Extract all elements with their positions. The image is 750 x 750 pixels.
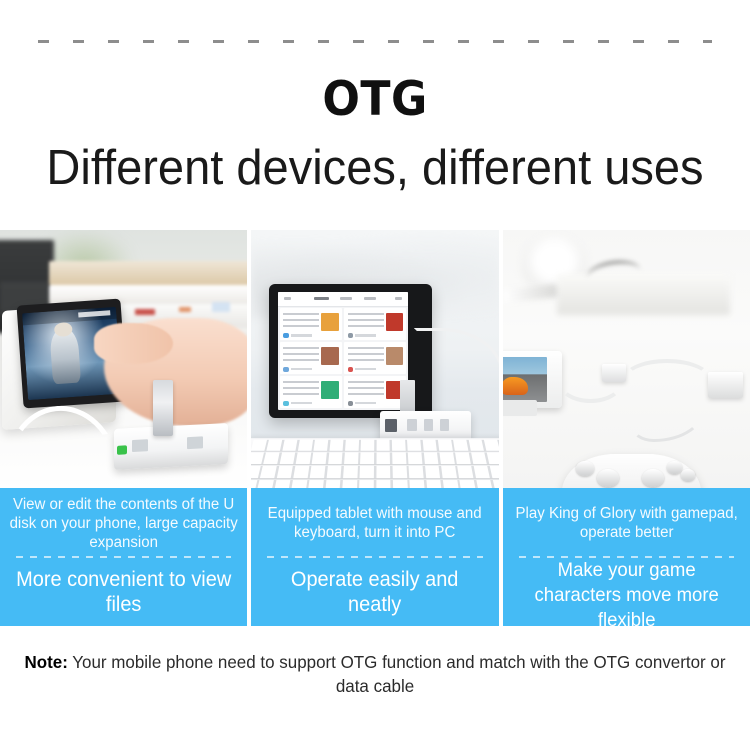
- article-text: [348, 313, 384, 330]
- book-label: [212, 302, 230, 312]
- note-label: Note:: [24, 652, 67, 672]
- article-text: [283, 381, 319, 398]
- racing-car-graphic: [503, 377, 528, 395]
- search-icon: [395, 297, 402, 300]
- author-avatar: [348, 333, 354, 338]
- usb-port: [424, 419, 433, 430]
- keyboard-row: [251, 466, 498, 479]
- caption-bottom: Make your game characters move more flex…: [509, 558, 744, 626]
- article-text: [348, 347, 384, 364]
- phone-screen: [503, 357, 547, 402]
- article-text: [283, 313, 319, 330]
- article-thumbnail: [321, 313, 338, 331]
- photo-tablet-pc: [251, 230, 498, 488]
- usb-port: [187, 436, 203, 449]
- caption-gamepad: Play King of Glory with gamepad, operate…: [503, 488, 750, 626]
- article-card-grid: [278, 306, 409, 410]
- article-text: [283, 347, 319, 364]
- usb-port: [407, 419, 416, 430]
- menu-icon: [284, 297, 291, 300]
- nav-tab: [340, 297, 352, 300]
- article-meta: [291, 334, 312, 337]
- author-avatar: [283, 401, 289, 406]
- article-text: [348, 381, 384, 398]
- caption-bottom-text: Make your game characters move more flex…: [515, 558, 739, 626]
- article-meta: [291, 402, 312, 405]
- keyboard: [251, 438, 498, 488]
- analog-stick-left: [597, 469, 619, 487]
- dpad-icon: [576, 461, 594, 476]
- infographic-page: OTG Different devices, different uses: [0, 0, 750, 750]
- feature-panels: View or edit the contents of the U disk …: [0, 230, 750, 626]
- author-avatar: [348, 367, 354, 372]
- hub-led-indicator: [117, 445, 126, 455]
- usb-flash-drive: [153, 380, 173, 437]
- app-nav-bar: [278, 292, 409, 307]
- photo-u-disk: [0, 230, 247, 488]
- article-card: [344, 342, 406, 374]
- article-card: [280, 376, 342, 408]
- tablet-screen: [278, 292, 409, 410]
- page-subtitle: Different devices, different uses: [15, 138, 735, 198]
- author-avatar: [283, 367, 289, 372]
- book-label: [179, 307, 191, 312]
- page-title: OTG: [23, 74, 728, 126]
- caption-tablet-pc: Equipped tablet with mouse and keyboard,…: [251, 488, 498, 626]
- book: [49, 261, 247, 285]
- feature-panel-u-disk: View or edit the contents of the U disk …: [0, 230, 247, 626]
- article-thumbnail: [386, 347, 403, 365]
- caption-bottom-text: Operate easily and neatly: [263, 567, 487, 617]
- notebook-blur: [557, 274, 730, 315]
- caption-bottom-text: More convenient to view files: [12, 567, 236, 617]
- caption-top: View or edit the contents of the U disk …: [6, 488, 241, 554]
- feature-panel-tablet-pc: Equipped tablet with mouse and keyboard,…: [251, 230, 498, 626]
- keyboard-row: [251, 480, 498, 488]
- article-thumbnail: [321, 381, 338, 399]
- author-avatar: [283, 333, 289, 338]
- article-thumbnail: [386, 313, 403, 331]
- pointing-finger: [94, 323, 173, 364]
- article-meta: [355, 334, 376, 337]
- caption-bottom: Operate easily and neatly: [257, 558, 492, 626]
- usb-port: [132, 439, 148, 452]
- article-card: [344, 308, 406, 340]
- caption-u-disk: View or edit the contents of the U disk …: [0, 488, 247, 626]
- article-meta: [291, 368, 312, 371]
- top-dashed-divider: [38, 40, 712, 43]
- article-card: [280, 342, 342, 374]
- article-card: [344, 376, 406, 408]
- phone-status-bar: [22, 307, 116, 325]
- caption-top: Play King of Glory with gamepad, operate…: [509, 488, 744, 554]
- note-text: Your mobile phone need to support OTG fu…: [72, 652, 725, 696]
- footer-note: Note: Your mobile phone need to support …: [11, 650, 739, 698]
- caption-top-text: Play King of Glory with gamepad, operate…: [512, 504, 740, 542]
- article-card: [280, 308, 342, 340]
- feature-panel-gamepad: Play King of Glory with gamepad, operate…: [503, 230, 750, 626]
- action-button: [667, 461, 682, 473]
- usb-port: [440, 419, 449, 430]
- keyboard-row: [251, 453, 498, 465]
- caption-bottom: More convenient to view files: [6, 558, 241, 626]
- book-label: [135, 309, 155, 315]
- caption-top: Equipped tablet with mouse and keyboard,…: [257, 488, 492, 554]
- phone-stand: [503, 400, 538, 415]
- analog-stick-right: [642, 469, 664, 487]
- article-meta: [355, 368, 376, 371]
- nav-tab: [364, 297, 376, 300]
- game-character: [49, 329, 81, 385]
- hub-brand-badge: [385, 419, 397, 432]
- photo-gamepad: [503, 230, 750, 488]
- keyboard-row: [251, 440, 498, 452]
- nav-tab: [314, 297, 328, 300]
- header: OTG Different devices, different uses: [0, 74, 750, 198]
- usb-adapter: [708, 372, 743, 398]
- caption-top-text: Equipped tablet with mouse and keyboard,…: [261, 504, 489, 542]
- caption-top-text: View or edit the contents of the U disk …: [10, 495, 238, 552]
- article-thumbnail: [321, 347, 338, 365]
- author-avatar: [348, 401, 354, 406]
- article-meta: [355, 402, 376, 405]
- action-button: [681, 469, 695, 480]
